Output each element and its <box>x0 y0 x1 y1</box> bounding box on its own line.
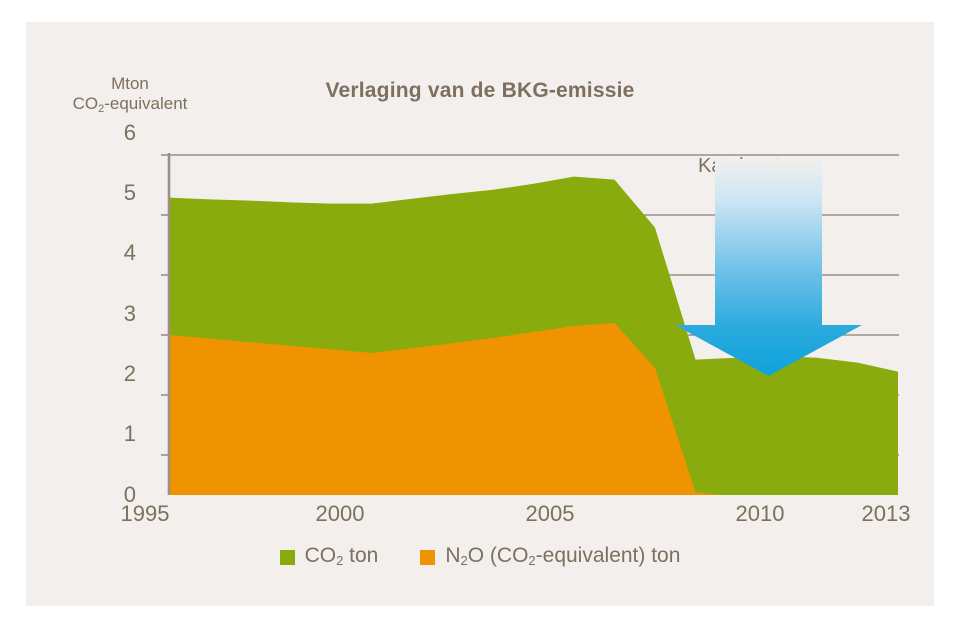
plot-area <box>143 133 899 495</box>
katalysator-arrow-icon <box>675 159 862 376</box>
legend-swatch-orange-icon <box>420 550 435 565</box>
legend-item-co2[interactable]: CO2 ton <box>280 544 379 568</box>
chart-panel: Verlaging van de BKG-emissie Mton CO2-eq… <box>26 22 934 606</box>
legend-swatch-green-icon <box>280 550 295 565</box>
x-tick-2010: 2010 <box>736 501 785 527</box>
x-tick-2005: 2005 <box>526 501 575 527</box>
chart-screenshot: Verlaging van de BKG-emissie Mton CO2-eq… <box>0 0 961 629</box>
legend-label-n2o: N2O (CO2-equivalent) ton <box>445 544 680 568</box>
legend-item-n2o[interactable]: N2O (CO2-equivalent) ton <box>420 544 680 568</box>
x-tick-1995: 1995 <box>121 501 170 527</box>
chart-legend: CO2 ton N2O (CO2-equivalent) ton <box>26 544 934 568</box>
x-tick-2013: 2013 <box>862 501 911 527</box>
legend-label-co2: CO2 ton <box>305 544 379 568</box>
x-tick-2000: 2000 <box>316 501 365 527</box>
